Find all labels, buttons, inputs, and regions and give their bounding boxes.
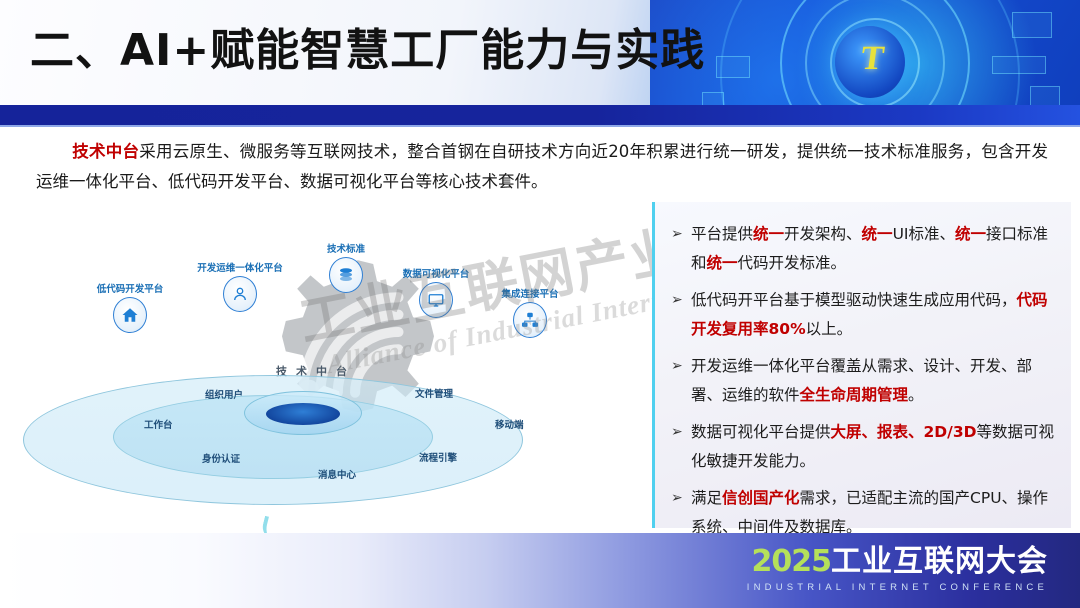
bullet-marker-icon: ➢ [671, 286, 691, 315]
bullet-marker-icon: ➢ [671, 484, 691, 513]
conference-year: 2025 [752, 544, 832, 579]
tech-middle-platform-diagram: 技术中台 组织用户 文件管理 工作台 移动端 身份认证 流程引擎 消息中心 低代… [8, 205, 648, 525]
page-title: 二、AI+赋能智慧工厂能力与实践 [30, 14, 705, 78]
bullet-marker-icon: ➢ [671, 220, 691, 249]
bullet-highlight: 统一 [862, 225, 893, 243]
bullet-highlight: 统一 [753, 225, 784, 243]
conference-name-cn: 工业互联网大会 [831, 544, 1048, 579]
ring-label-file-mgmt: 文件管理 [415, 386, 453, 400]
node-label: 集成连接平台 [501, 286, 558, 300]
node-label: 开发运维一体化平台 [197, 260, 283, 274]
bullet-span: 满足 [691, 489, 722, 507]
bullet-highlight: 信创国产化 [722, 489, 800, 507]
bullet-item: ➢低代码开平台基于模型驱动快速生成应用代码，代码开发复用率80%以上。 [671, 286, 1057, 344]
slide-header: T 二、AI+赋能智慧工厂能力与实践 [0, 0, 1080, 108]
circuit-chip-icon [992, 56, 1046, 74]
bullet-span: 平台提供 [691, 225, 753, 243]
bullet-text: 数据可视化平台提供大屏、报表、2D/3D等数据可视化敏捷开发能力。 [691, 418, 1057, 476]
home-icon [113, 297, 147, 333]
user-icon [223, 276, 257, 312]
header-accent-bar-edge [0, 125, 1080, 127]
node-label: 技术标准 [327, 241, 365, 255]
ring-label-workflow: 流程引擎 [419, 450, 457, 464]
slide-footer: 2025工业互联网大会 INDUSTRIAL INTERNET CONFEREN… [0, 533, 1080, 608]
node-label: 低代码开发平台 [97, 281, 164, 295]
intro-line1: 采用云原生、微服务等互联网技术，整合首钢在自研技术方向近20年积累进行统一研发，… [139, 142, 981, 161]
intro-paragraph: 技术中台采用云原生、微服务等互联网技术，整合首钢在自研技术方向近20年积累进行统… [36, 137, 1048, 197]
ring-label-org-users: 组织用户 [205, 387, 243, 401]
circuit-chip-icon [716, 56, 750, 78]
bullet-text: 低代码开平台基于模型驱动快速生成应用代码，代码开发复用率80%以上。 [691, 286, 1057, 344]
ring-label-message: 消息中心 [318, 467, 356, 481]
key-points-panel: ➢平台提供统一开发架构、统一UI标准、统一接口标准和统一代码开发标准。➢低代码开… [655, 202, 1071, 528]
node-label: 数据可视化平台 [403, 266, 470, 280]
intro-highlight: 技术中台 [72, 142, 139, 161]
circuit-chip-icon [1012, 12, 1052, 38]
bullet-span: 数据可视化平台提供 [691, 423, 831, 441]
bullet-span: 低代码开平台基于模型驱动快速生成应用代码， [691, 291, 1017, 309]
bullet-span: 以上。 [806, 320, 853, 338]
bullet-marker-icon: ➢ [671, 352, 691, 381]
layers-icon [329, 257, 363, 293]
bullet-span: 。 [908, 386, 924, 404]
ring-label-workbench: 工作台 [144, 417, 173, 431]
bullet-highlight: 大屏、报表、2D/3D [831, 423, 977, 441]
bullet-marker-icon: ➢ [671, 418, 691, 447]
bullet-span: 开发架构、 [784, 225, 862, 243]
bullet-item: ➢开发运维一体化平台覆盖从需求、设计、开发、部署、运维的软件全生命周期管理。 [671, 352, 1057, 410]
bullet-text: 开发运维一体化平台覆盖从需求、设计、开发、部署、运维的软件全生命周期管理。 [691, 352, 1057, 410]
bullet-text: 平台提供统一开发架构、统一UI标准、统一接口标准和统一代码开发标准。 [691, 220, 1057, 278]
ring-label-identity: 身份认证 [202, 451, 240, 465]
bullet-item: ➢数据可视化平台提供大屏、报表、2D/3D等数据可视化敏捷开发能力。 [671, 418, 1057, 476]
monitor-icon [419, 282, 453, 318]
bullet-span: 代码开发标准。 [738, 254, 847, 272]
bullet-highlight: 全生命周期管理 [800, 386, 909, 404]
bullet-span: UI标准、 [893, 225, 955, 243]
ring-label-mobile: 移动端 [495, 417, 524, 431]
header-accent-bar [0, 105, 1080, 125]
bullet-highlight: 统一 [955, 225, 986, 243]
network-icon [513, 302, 547, 338]
bullet-highlight: 统一 [707, 254, 738, 272]
bullet-item: ➢平台提供统一开发架构、统一UI标准、统一接口标准和统一代码开发标准。 [671, 220, 1057, 278]
center-puck-core [266, 403, 340, 425]
header-tech-graphic: T [650, 0, 1080, 108]
conference-logo: 2025工业互联网大会 INDUSTRIAL INTERNET CONFEREN… [747, 547, 1048, 593]
conference-name-en: INDUSTRIAL INTERNET CONFERENCE [747, 582, 1048, 593]
